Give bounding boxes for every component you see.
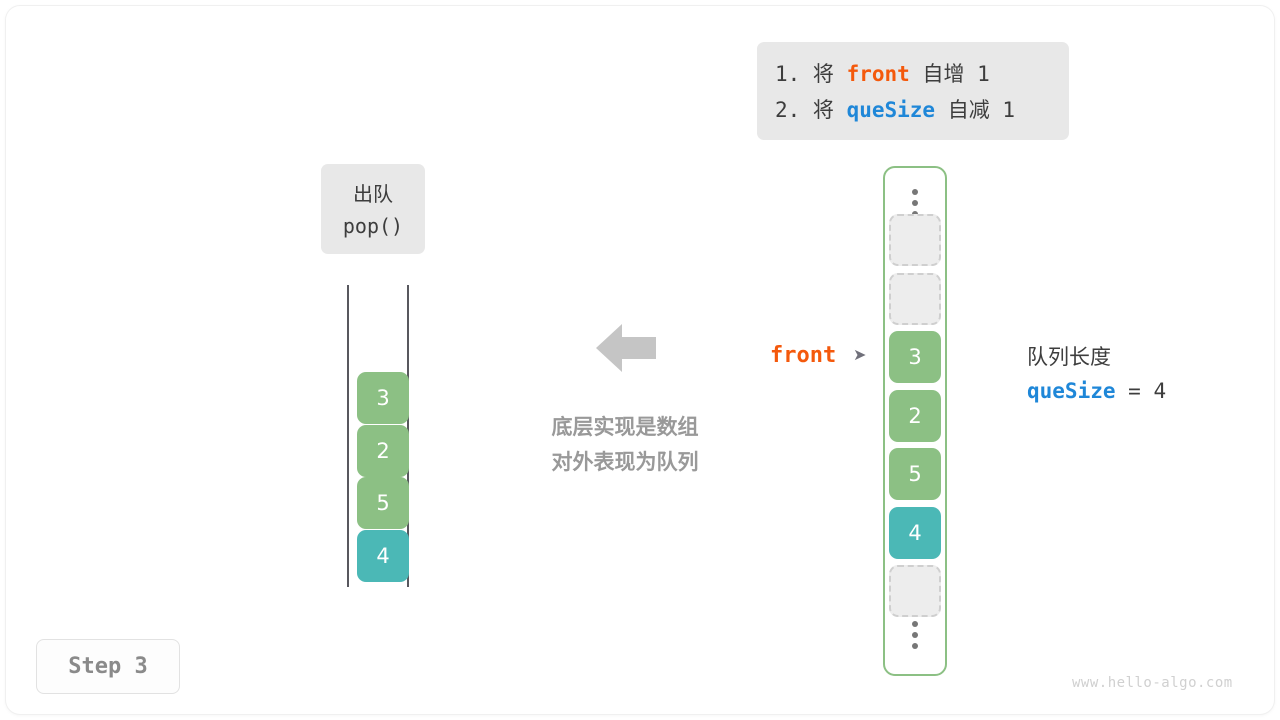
ellipsis-bottom-icon [885,616,945,649]
note-line-1-keyword: front [847,62,910,86]
array-cell-empty [889,214,941,266]
queue-cell: 3 [357,372,409,424]
transform-arrow-icon [596,320,656,376]
array-cell: 4 [889,507,941,559]
step-badge: Step 3 [36,639,180,694]
note-line-2-prefix: 2. 将 [775,98,847,122]
pop-method: pop() [321,210,425,242]
note-line-1-suffix: 自增 1 [910,62,990,86]
queue-rail-left [347,285,349,587]
array-cell: 3 [889,331,941,383]
note-line-1-prefix: 1. 将 [775,62,847,86]
array-cell-empty [889,273,941,325]
pop-operation-label: 出队 pop() [321,164,425,254]
note-line-2-keyword: queSize [847,98,936,122]
front-pointer-label: front [770,343,836,368]
note-line-2-suffix: 自减 1 [935,98,1015,122]
quesize-expression: queSize = 4 [1027,374,1166,408]
ellipsis-top-icon [885,184,945,217]
quesize-equals: = [1116,379,1154,403]
queue-cell: 5 [357,477,409,529]
quesize-title: 队列长度 [1027,340,1166,374]
quesize-caption: 队列长度 queSize = 4 [1027,340,1166,408]
quesize-var: queSize [1027,379,1116,403]
quesize-value: 4 [1153,379,1166,403]
center-caption: 底层实现是数组 对外表现为队列 [505,410,745,480]
queue-cell: 4 [357,530,409,582]
underlying-array: 3254 [883,166,947,676]
operation-note-box: 1. 将 front 自增 1 2. 将 queSize 自减 1 [757,42,1069,140]
front-pointer-caret-icon: ➤ [853,347,866,363]
array-cell-empty [889,565,941,617]
watermark: www.hello-algo.com [1072,675,1233,691]
note-line-2: 2. 将 queSize 自减 1 [775,92,1069,128]
queue-cell: 2 [357,425,409,477]
abstract-queue: 3254 [340,285,416,587]
note-line-1: 1. 将 front 自增 1 [775,56,1069,92]
step-badge-label: Step 3 [68,654,147,679]
array-cell: 5 [889,448,941,500]
array-cell: 2 [889,390,941,442]
center-caption-line1: 底层实现是数组 [505,410,745,445]
center-caption-line2: 对外表现为队列 [505,445,745,480]
pop-title: 出队 [321,178,425,210]
